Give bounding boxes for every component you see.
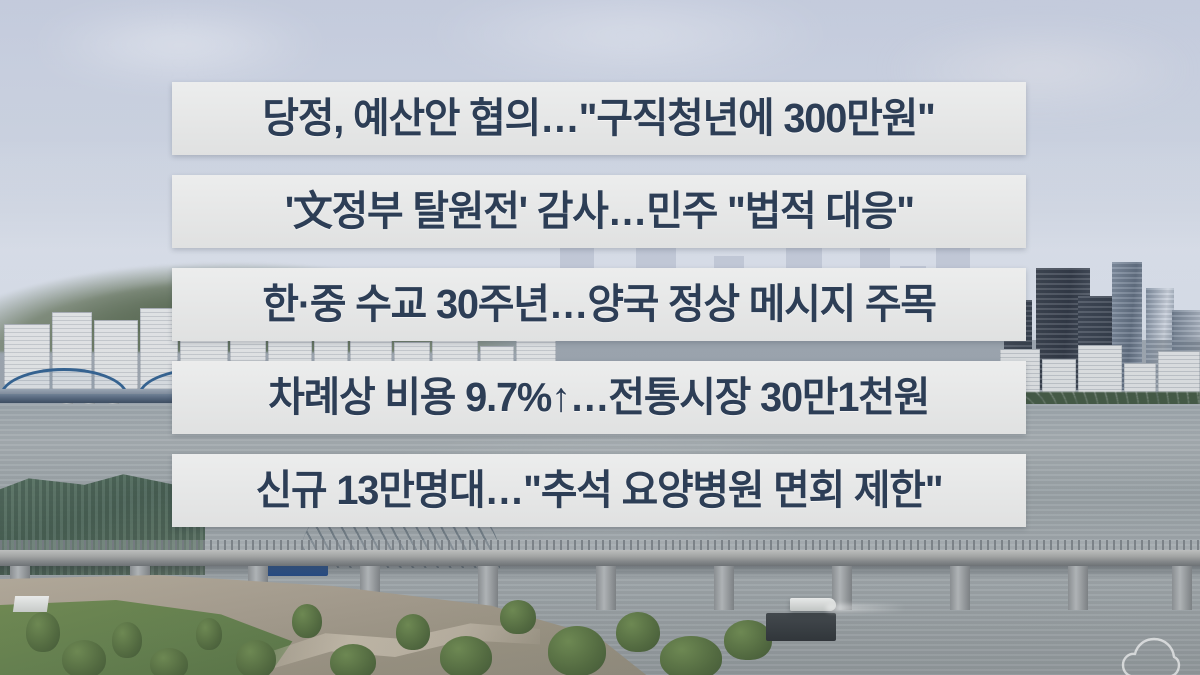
- headline-text: 당정, 예산안 협의…"구직청년에 300만원": [263, 98, 935, 139]
- headline-banner[interactable]: 한·중 수교 30주년…양국 정상 메시지 주목: [172, 268, 1026, 341]
- headline-text: '文정부 탈원전' 감사…민주 "법적 대응": [284, 191, 913, 232]
- headline-text: 신규 13만명대…"추석 요양병원 면회 제한": [256, 470, 943, 511]
- boat-wake: [826, 604, 906, 612]
- headline-banner[interactable]: 당정, 예산안 협의…"구직청년에 300만원": [172, 82, 1026, 155]
- headline-banner[interactable]: '文정부 탈원전' 감사…민주 "법적 대응": [172, 175, 1026, 248]
- headline-text: 한·중 수교 30주년…양국 정상 메시지 주목: [262, 284, 935, 325]
- headline-banner[interactable]: 차례상 비용 9.7%↑…전통시장 30만1천원: [172, 361, 1026, 434]
- dock: [766, 613, 836, 641]
- headline-banner[interactable]: 신규 13만명대…"추석 요양병원 면회 제한": [172, 454, 1026, 527]
- cloud: [30, 10, 330, 80]
- headline-list: 당정, 예산안 협의…"구직청년에 300만원" '文정부 탈원전' 감사…민주…: [172, 82, 1026, 527]
- bank-object: [13, 596, 49, 612]
- headline-text: 차례상 비용 9.7%↑…전통시장 30만1천원: [269, 377, 930, 418]
